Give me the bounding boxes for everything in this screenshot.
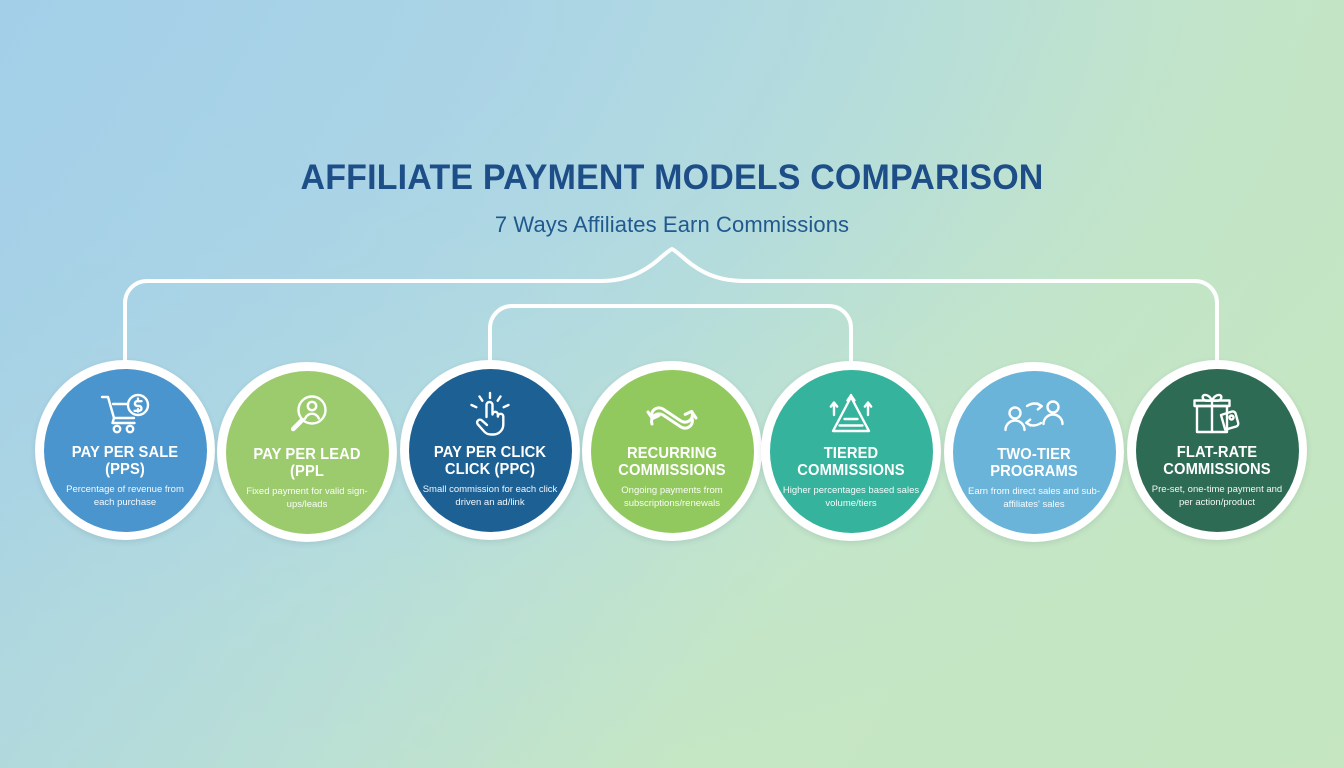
connector-top-rail-right (744, 281, 1217, 364)
node-title: RECURRING COMMISSIONS (601, 445, 744, 480)
infographic-canvas: AFFILIATE PAYMENT MODELS COMPARISON 7 Wa… (0, 0, 1344, 768)
node-title: TWO-TIER PROGRAMS (963, 446, 1106, 481)
node-disc: RECURRING COMMISSIONS Ongoing payments f… (591, 370, 754, 533)
page-subtitle: 7 Ways Affiliates Earn Commissions (0, 212, 1344, 238)
node-flat-rate-commissions[interactable]: FLAT-RATE COMMISSIONS Pre-set, one-time … (1127, 360, 1307, 540)
node-pay-per-click[interactable]: PAY PER CLICK CLICK (PPC) Small commissi… (400, 360, 580, 540)
gift-tag-icon (1191, 391, 1243, 437)
node-disc: PAY PER LEAD (PPL Fixed payment for vali… (226, 371, 389, 534)
node-title: TIERED COMMISSIONS (780, 445, 923, 480)
shopping-cart-dollar-icon (99, 391, 151, 437)
node-description: Percentage of revenue from each purchase (56, 484, 194, 509)
node-disc: PAY PER CLICK CLICK (PPC) Small commissi… (409, 369, 572, 532)
magnifier-person-icon (284, 393, 330, 439)
node-title: PAY PER SALE (PPS) (54, 444, 197, 479)
two-people-arrows-icon (1003, 393, 1065, 439)
pyramid-arrows-icon (825, 392, 877, 438)
connector-inner-rail (490, 306, 851, 366)
node-description: Fixed payment for valid sign-ups/leads (238, 486, 376, 511)
recurring-arrows-icon (644, 392, 700, 438)
node-title: PAY PER CLICK CLICK (PPC) (419, 444, 562, 479)
node-two-tier-programs[interactable]: TWO-TIER PROGRAMS Earn from direct sales… (944, 362, 1124, 542)
node-description: Earn from direct sales and sub-affiliate… (965, 486, 1103, 511)
connector-top-rail-left (125, 281, 600, 364)
node-title: PAY PER LEAD (PPL (236, 446, 379, 481)
node-tiered-commissions[interactable]: TIERED COMMISSIONS Higher percentages ba… (761, 361, 941, 541)
header-block: AFFILIATE PAYMENT MODELS COMPARISON 7 Wa… (0, 160, 1344, 238)
connector-apex (600, 249, 744, 281)
click-hand-icon (467, 391, 513, 437)
node-description: Ongoing payments from subscriptions/rene… (603, 485, 741, 510)
page-title: AFFILIATE PAYMENT MODELS COMPARISON (20, 160, 1324, 197)
node-disc: TIERED COMMISSIONS Higher percentages ba… (770, 370, 933, 533)
node-disc: PAY PER SALE (PPS) Percentage of revenue… (44, 369, 207, 532)
node-recurring-commissions[interactable]: RECURRING COMMISSIONS Ongoing payments f… (582, 361, 762, 541)
node-description: Pre-set, one-time payment and per action… (1148, 484, 1286, 509)
node-title: FLAT-RATE COMMISSIONS (1146, 444, 1289, 479)
node-disc: FLAT-RATE COMMISSIONS Pre-set, one-time … (1136, 369, 1299, 532)
node-pay-per-lead[interactable]: PAY PER LEAD (PPL Fixed payment for vali… (217, 362, 397, 542)
node-disc: TWO-TIER PROGRAMS Earn from direct sales… (953, 371, 1116, 534)
node-pay-per-sale[interactable]: PAY PER SALE (PPS) Percentage of revenue… (35, 360, 215, 540)
node-description: Higher percentages based sales volume/ti… (782, 485, 920, 510)
node-description: Small commission for each click driven a… (421, 484, 559, 509)
